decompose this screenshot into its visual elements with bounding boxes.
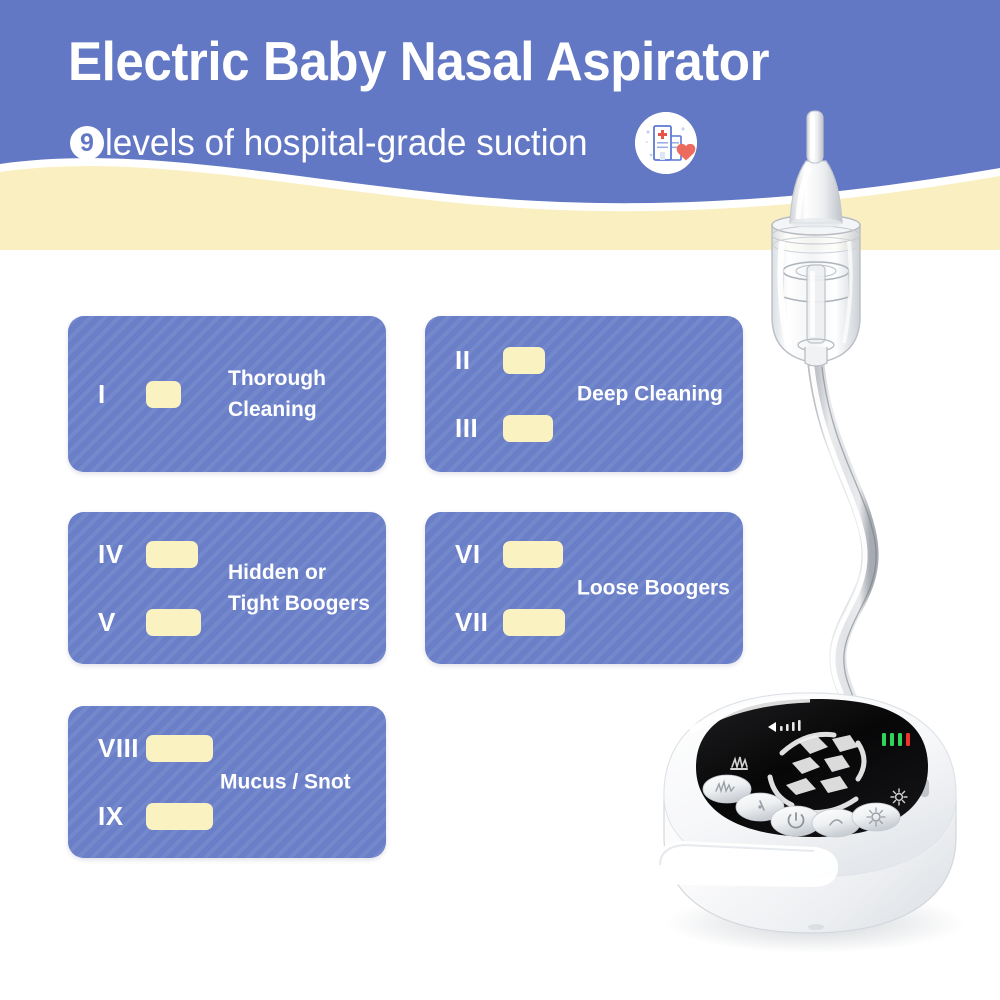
header-content: Electric Baby Nasal Aspirator 9 levels o… bbox=[0, 0, 1000, 210]
suction-bar bbox=[503, 415, 553, 442]
level-card-label: Deep Cleaning bbox=[577, 379, 723, 410]
music-note-icon bbox=[730, 757, 748, 770]
suction-level-display bbox=[770, 734, 864, 812]
level-row: VI bbox=[455, 531, 565, 577]
product-shadow bbox=[665, 893, 965, 953]
label-line: Tight Boogers bbox=[228, 588, 370, 619]
level-card-loose-boogers[interactable]: VI VII Loose Boogers bbox=[425, 512, 743, 664]
clear-silicone-tube bbox=[816, 365, 870, 731]
battery-level-indicator bbox=[882, 733, 910, 746]
control-panel bbox=[696, 699, 928, 837]
tube-highlight bbox=[812, 367, 865, 732]
level-numeral: IV bbox=[98, 539, 146, 570]
level-card-label: Loose Boogers bbox=[577, 573, 730, 604]
suction-bar bbox=[503, 541, 563, 568]
volume-level-indicator bbox=[768, 720, 801, 732]
suction-bar bbox=[146, 541, 198, 568]
level-row: I bbox=[98, 371, 181, 417]
level-row: VIII bbox=[98, 725, 213, 771]
level-row: II bbox=[455, 337, 553, 383]
page-title: Electric Baby Nasal Aspirator bbox=[68, 30, 886, 92]
suction-bar bbox=[146, 381, 181, 408]
suction-bar bbox=[146, 609, 201, 636]
label-line: Thorough bbox=[228, 363, 326, 394]
level-numeral: I bbox=[98, 379, 146, 410]
level-numeral: V bbox=[98, 607, 146, 638]
level-count-badge: 9 bbox=[70, 126, 104, 160]
level-card-deep-cleaning[interactable]: II III Deep Cleaning bbox=[425, 316, 743, 472]
level-numeral: VI bbox=[455, 539, 503, 570]
hospital-heart-icon bbox=[635, 112, 697, 174]
label-line: Loose Boogers bbox=[577, 573, 730, 604]
tube-inner-edge bbox=[822, 367, 876, 733]
clear-collection-chamber bbox=[772, 215, 860, 366]
light-sun-icon bbox=[891, 789, 907, 805]
level-row: III bbox=[455, 405, 553, 451]
light-button bbox=[852, 803, 900, 831]
speed-dial-button bbox=[736, 793, 784, 821]
subtitle-text: levels of hospital-grade suction bbox=[105, 123, 588, 163]
infographic-page: Electric Baby Nasal Aspirator 9 levels o… bbox=[0, 0, 1000, 1000]
motor-base-unit bbox=[656, 693, 956, 933]
level-numeral: II bbox=[455, 345, 503, 376]
label-line: Hidden or bbox=[228, 557, 370, 588]
music-button bbox=[703, 775, 751, 803]
level-row: VII bbox=[455, 599, 565, 645]
label-line: Mucus / Snot bbox=[220, 767, 351, 798]
level-rows: I bbox=[98, 316, 181, 472]
level-card-thorough-cleaning[interactable]: I Thorough Cleaning bbox=[68, 316, 386, 472]
level-numeral: VIII bbox=[98, 733, 146, 764]
level-numeral: VII bbox=[455, 607, 503, 638]
power-button bbox=[771, 806, 821, 836]
grip-slot bbox=[656, 841, 838, 887]
level-card-hidden-tight-boogers[interactable]: IV V Hidden or Tight Boogers bbox=[68, 512, 386, 664]
level-rows: IV V bbox=[98, 512, 201, 664]
level-rows: II III bbox=[455, 316, 553, 472]
subtitle-row: 9 levels of hospital-grade suction bbox=[70, 112, 697, 174]
mode-button bbox=[812, 809, 860, 837]
suction-bar bbox=[146, 735, 213, 762]
level-numeral: III bbox=[455, 413, 503, 444]
level-rows: VIII IX bbox=[98, 706, 213, 858]
suction-bar bbox=[146, 803, 213, 830]
level-card-label: Thorough Cleaning bbox=[228, 363, 326, 425]
level-row: IV bbox=[98, 531, 201, 577]
level-row: IX bbox=[98, 793, 213, 839]
level-card-label: Hidden or Tight Boogers bbox=[228, 557, 370, 619]
suction-bar bbox=[503, 609, 565, 636]
level-rows: VI VII bbox=[455, 512, 565, 664]
suction-bar bbox=[503, 347, 545, 374]
label-line: Cleaning bbox=[228, 394, 326, 425]
level-card-label: Mucus / Snot bbox=[220, 767, 351, 798]
level-row: V bbox=[98, 599, 201, 645]
label-line: Deep Cleaning bbox=[577, 379, 723, 410]
level-card-mucus-snot[interactable]: VIII IX Mucus / Snot bbox=[68, 706, 386, 858]
tube-outline bbox=[816, 365, 870, 731]
charging-port bbox=[920, 779, 929, 797]
level-numeral: IX bbox=[98, 801, 146, 832]
